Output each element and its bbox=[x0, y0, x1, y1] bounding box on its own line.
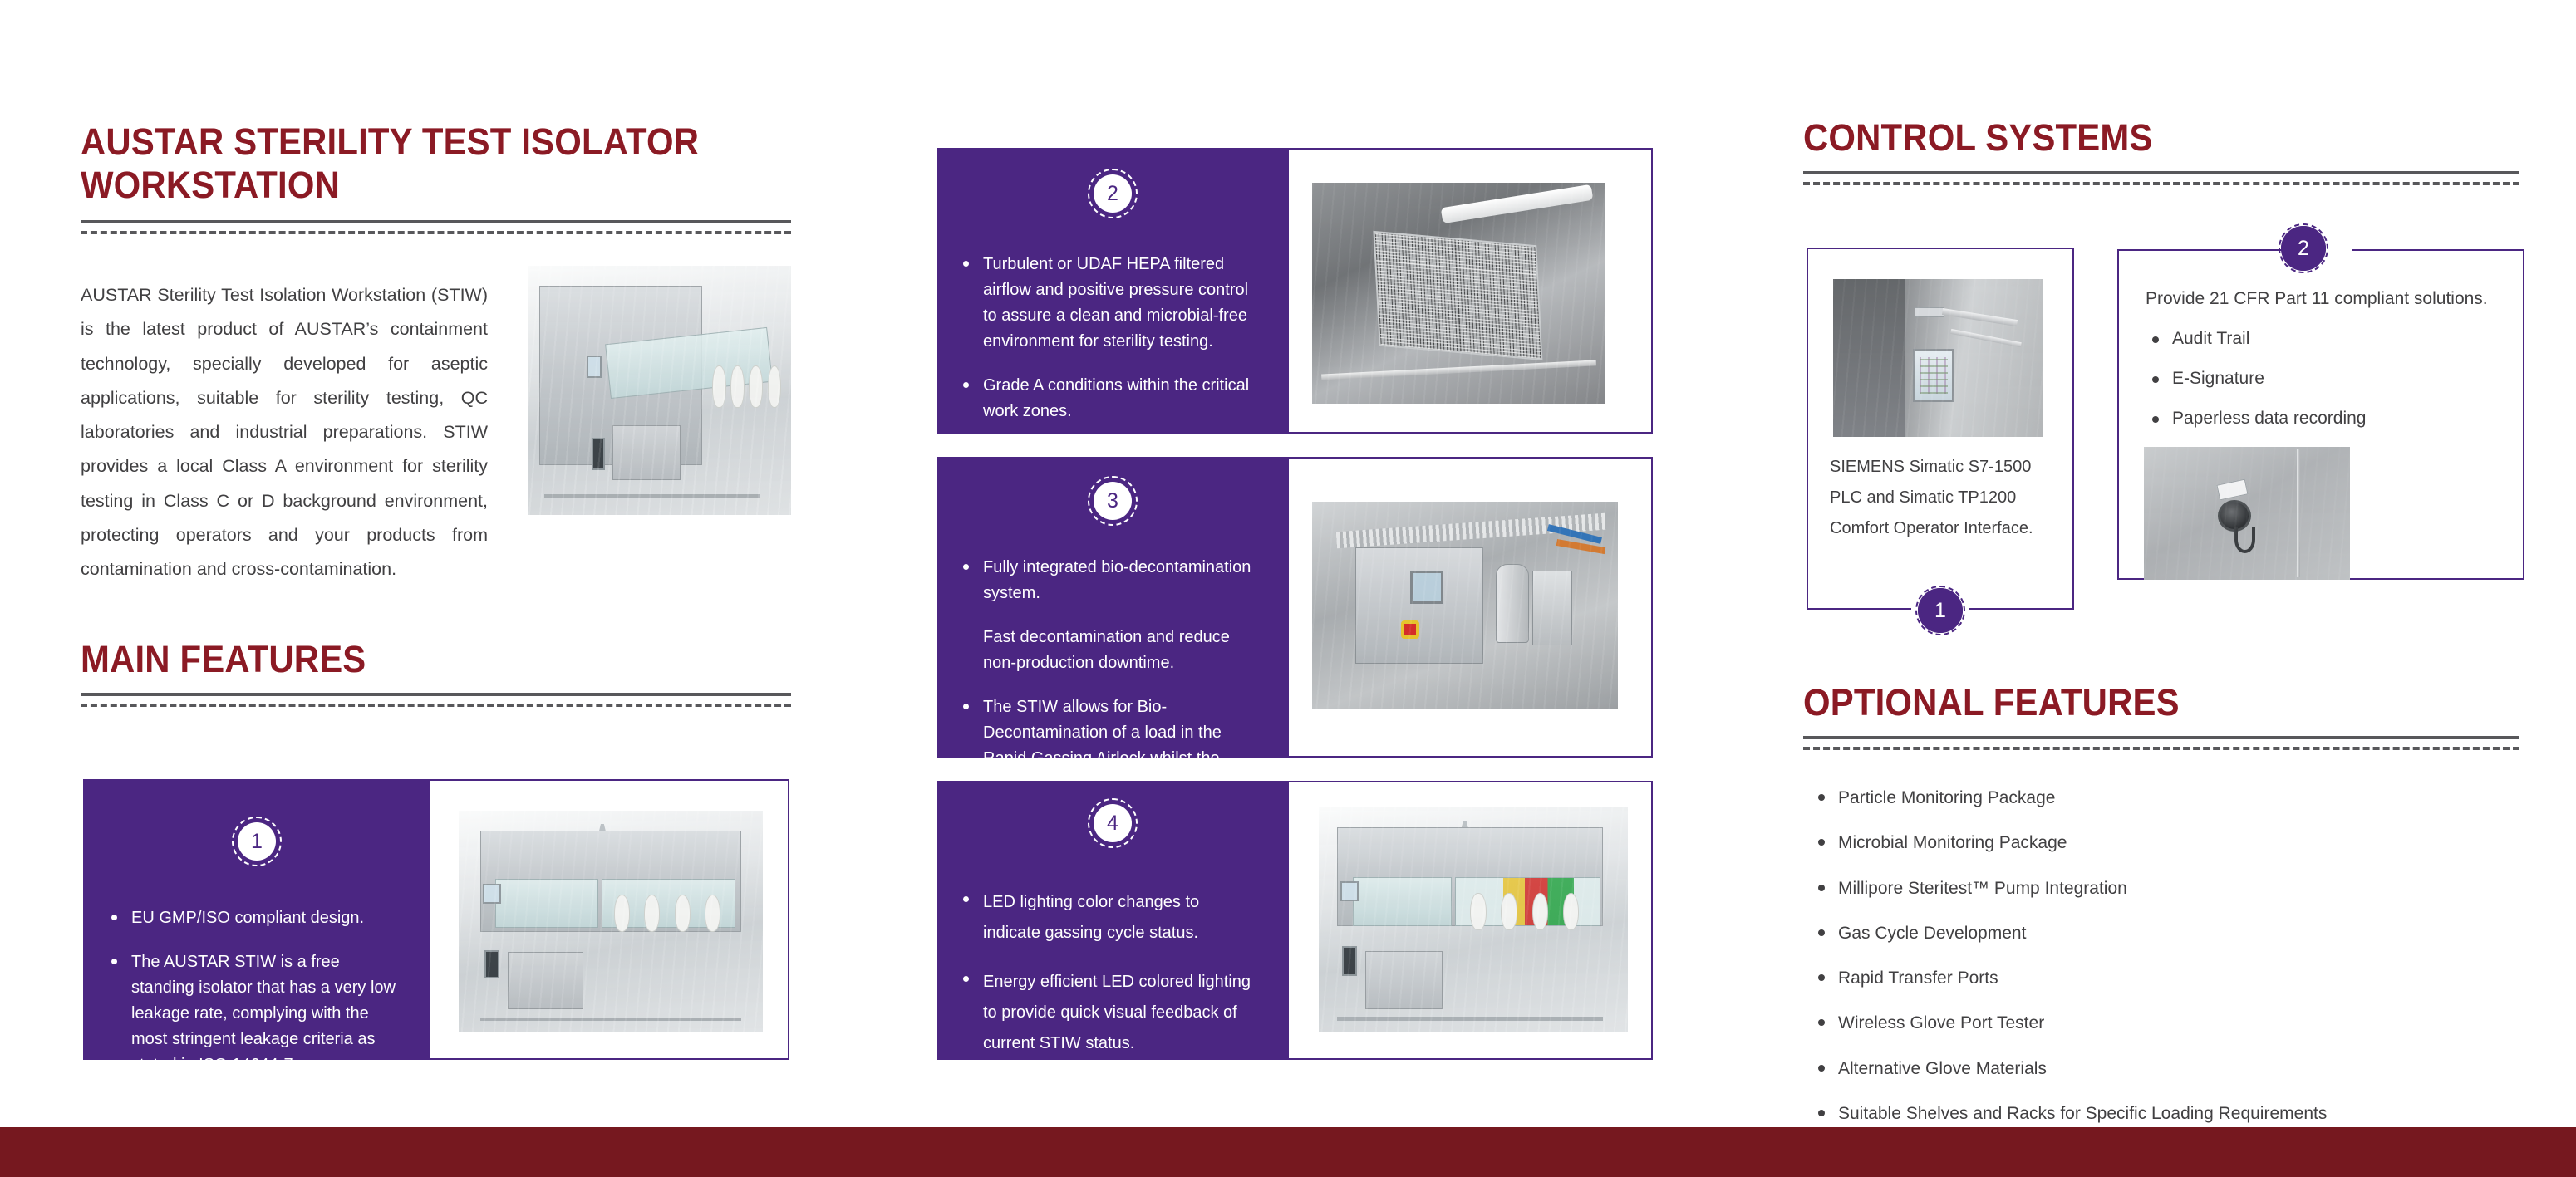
list-item: Suitable Shelves and Racks for Specific … bbox=[1813, 1103, 2528, 1125]
stiw-front-view-image bbox=[459, 811, 763, 1032]
siemens-plc-image bbox=[1833, 279, 2043, 437]
control-badge-1: 1 bbox=[1921, 591, 1959, 630]
feature-panel-3: 3 Fully integrated bio-decontamination s… bbox=[937, 457, 1653, 758]
feature-panel-4: 4 LED lighting color changes to indicate… bbox=[937, 781, 1653, 1060]
glove-port-image bbox=[2144, 447, 2350, 580]
feature-panel-2: 2 Turbulent or UDAF HEPA filtered airflo… bbox=[937, 148, 1653, 434]
panel-badge-1: 1 bbox=[238, 822, 276, 861]
control-box-1-caption: SIEMENS Simatic S7-1500 PLC and Simatic … bbox=[1830, 452, 2052, 544]
list-item: Wireless Glove Port Tester bbox=[1813, 1013, 2528, 1034]
feature-panel-2-text-pane: 2 Turbulent or UDAF HEPA filtered airflo… bbox=[937, 148, 1289, 434]
footer-bar bbox=[0, 1127, 2576, 1177]
list-item: The AUSTAR STIW is a free standing isola… bbox=[106, 949, 402, 1078]
control-box-2-lead: Provide 21 CFR Part 11 compliant solutio… bbox=[2146, 289, 2503, 309]
main-features-section-header: MAIN FEATURES bbox=[81, 638, 795, 707]
control-box-2: Provide 21 CFR Part 11 compliant solutio… bbox=[2117, 249, 2524, 580]
feature-panel-2-list: Turbulent or UDAF HEPA filtered airflow … bbox=[958, 252, 1259, 424]
list-item: LED lighting color changes to indicate g… bbox=[958, 887, 1259, 949]
list-item: E-Signature bbox=[2146, 369, 2495, 389]
optional-features-title: OPTIONAL FEATURES bbox=[1803, 681, 2475, 724]
feature-panel-1-text-pane: 1 EU GMP/ISO compliant design. The AUSTA… bbox=[83, 779, 430, 1060]
hero-product-image bbox=[528, 266, 791, 515]
list-item: Turbulent or UDAF HEPA filtered airflow … bbox=[958, 252, 1259, 355]
list-item: Grade A conditions within the critical w… bbox=[958, 373, 1259, 424]
feature-panel-1: 1 EU GMP/ISO compliant design. The AUSTA… bbox=[83, 779, 789, 1060]
feature-panel-3-text-pane: 3 Fully integrated bio-decontamination s… bbox=[937, 457, 1289, 758]
feature-panel-3-list: Fully integrated bio-decontamination sys… bbox=[958, 555, 1259, 797]
feature-panel-4-text-pane: 4 LED lighting color changes to indicate… bbox=[937, 781, 1289, 1060]
list-item: Rapid Transfer Ports bbox=[1813, 968, 2528, 989]
feature-panel-1-list: EU GMP/ISO compliant design. The AUSTAR … bbox=[106, 905, 402, 1078]
panel-badge-4: 4 bbox=[1094, 804, 1132, 842]
main-features-title: MAIN FEATURES bbox=[81, 638, 745, 681]
feature-panel-2-image-pane bbox=[1289, 148, 1653, 434]
main-features-rules bbox=[81, 693, 791, 707]
control-badge-2: 2 bbox=[2284, 229, 2323, 267]
hepa-filter-image bbox=[1312, 183, 1605, 404]
optional-features-rules bbox=[1803, 736, 2519, 750]
led-status-lighting-image bbox=[1319, 807, 1628, 1032]
control-systems-rules bbox=[1803, 171, 2519, 185]
bio-decontamination-image bbox=[1312, 502, 1618, 709]
rule-solid bbox=[81, 220, 791, 223]
feature-panel-3-image-pane bbox=[1289, 457, 1653, 758]
left-column: AUSTAR STERILITY TEST ISOLATOR WORKSTATI… bbox=[81, 120, 795, 234]
list-item-continuation: Fast decontamination and reduce non-prod… bbox=[958, 625, 1259, 676]
rule-solid bbox=[1803, 171, 2519, 174]
optional-features-list: Particle Monitoring Package Microbial Mo… bbox=[1813, 787, 2528, 1148]
control-box-2-list: Audit Trail E-Signature Paperless data r… bbox=[2146, 329, 2495, 449]
control-box-1: SIEMENS Simatic S7-1500 PLC and Simatic … bbox=[1807, 248, 2074, 610]
rule-solid bbox=[81, 693, 791, 696]
list-item: Gas Cycle Development bbox=[1813, 923, 2528, 944]
rule-dashed bbox=[81, 231, 791, 234]
feature-panel-4-list: LED lighting color changes to indicate g… bbox=[958, 887, 1259, 1059]
list-item: Paperless data recording bbox=[2146, 409, 2495, 429]
rule-dashed bbox=[1803, 747, 2519, 750]
brochure-page: AUSTAR STERILITY TEST ISOLATOR WORKSTATI… bbox=[0, 0, 2576, 1177]
rule-dashed bbox=[81, 704, 791, 707]
control-systems-title: CONTROL SYSTEMS bbox=[1803, 116, 2475, 159]
list-item: Audit Trail bbox=[2146, 329, 2495, 349]
list-item: Alternative Glove Materials bbox=[1813, 1058, 2528, 1080]
list-item: Energy efficient LED colored lighting to… bbox=[958, 967, 1259, 1059]
title-rules bbox=[81, 220, 791, 234]
rule-solid bbox=[1803, 736, 2519, 739]
optional-features-section-header: OPTIONAL FEATURES bbox=[1803, 681, 2526, 750]
list-item: Microbial Monitoring Package bbox=[1813, 832, 2528, 854]
list-item: Millipore Steritest™ Pump Integration bbox=[1813, 878, 2528, 900]
panel-badge-2: 2 bbox=[1094, 174, 1132, 213]
feature-panel-4-image-pane bbox=[1289, 781, 1653, 1060]
panel-badge-3: 3 bbox=[1094, 482, 1132, 520]
rule-dashed bbox=[1803, 182, 2519, 185]
intro-paragraph: AUSTAR Sterility Test Isolation Workstat… bbox=[81, 278, 488, 586]
page-title: AUSTAR STERILITY TEST ISOLATOR WORKSTATI… bbox=[81, 120, 745, 207]
list-item: Fully integrated bio-decontamination sys… bbox=[958, 555, 1259, 606]
control-systems-section-header: CONTROL SYSTEMS bbox=[1803, 116, 2526, 185]
feature-panel-1-image-pane bbox=[430, 779, 789, 1060]
list-item: Particle Monitoring Package bbox=[1813, 787, 2528, 809]
list-item: EU GMP/ISO compliant design. bbox=[106, 905, 402, 931]
